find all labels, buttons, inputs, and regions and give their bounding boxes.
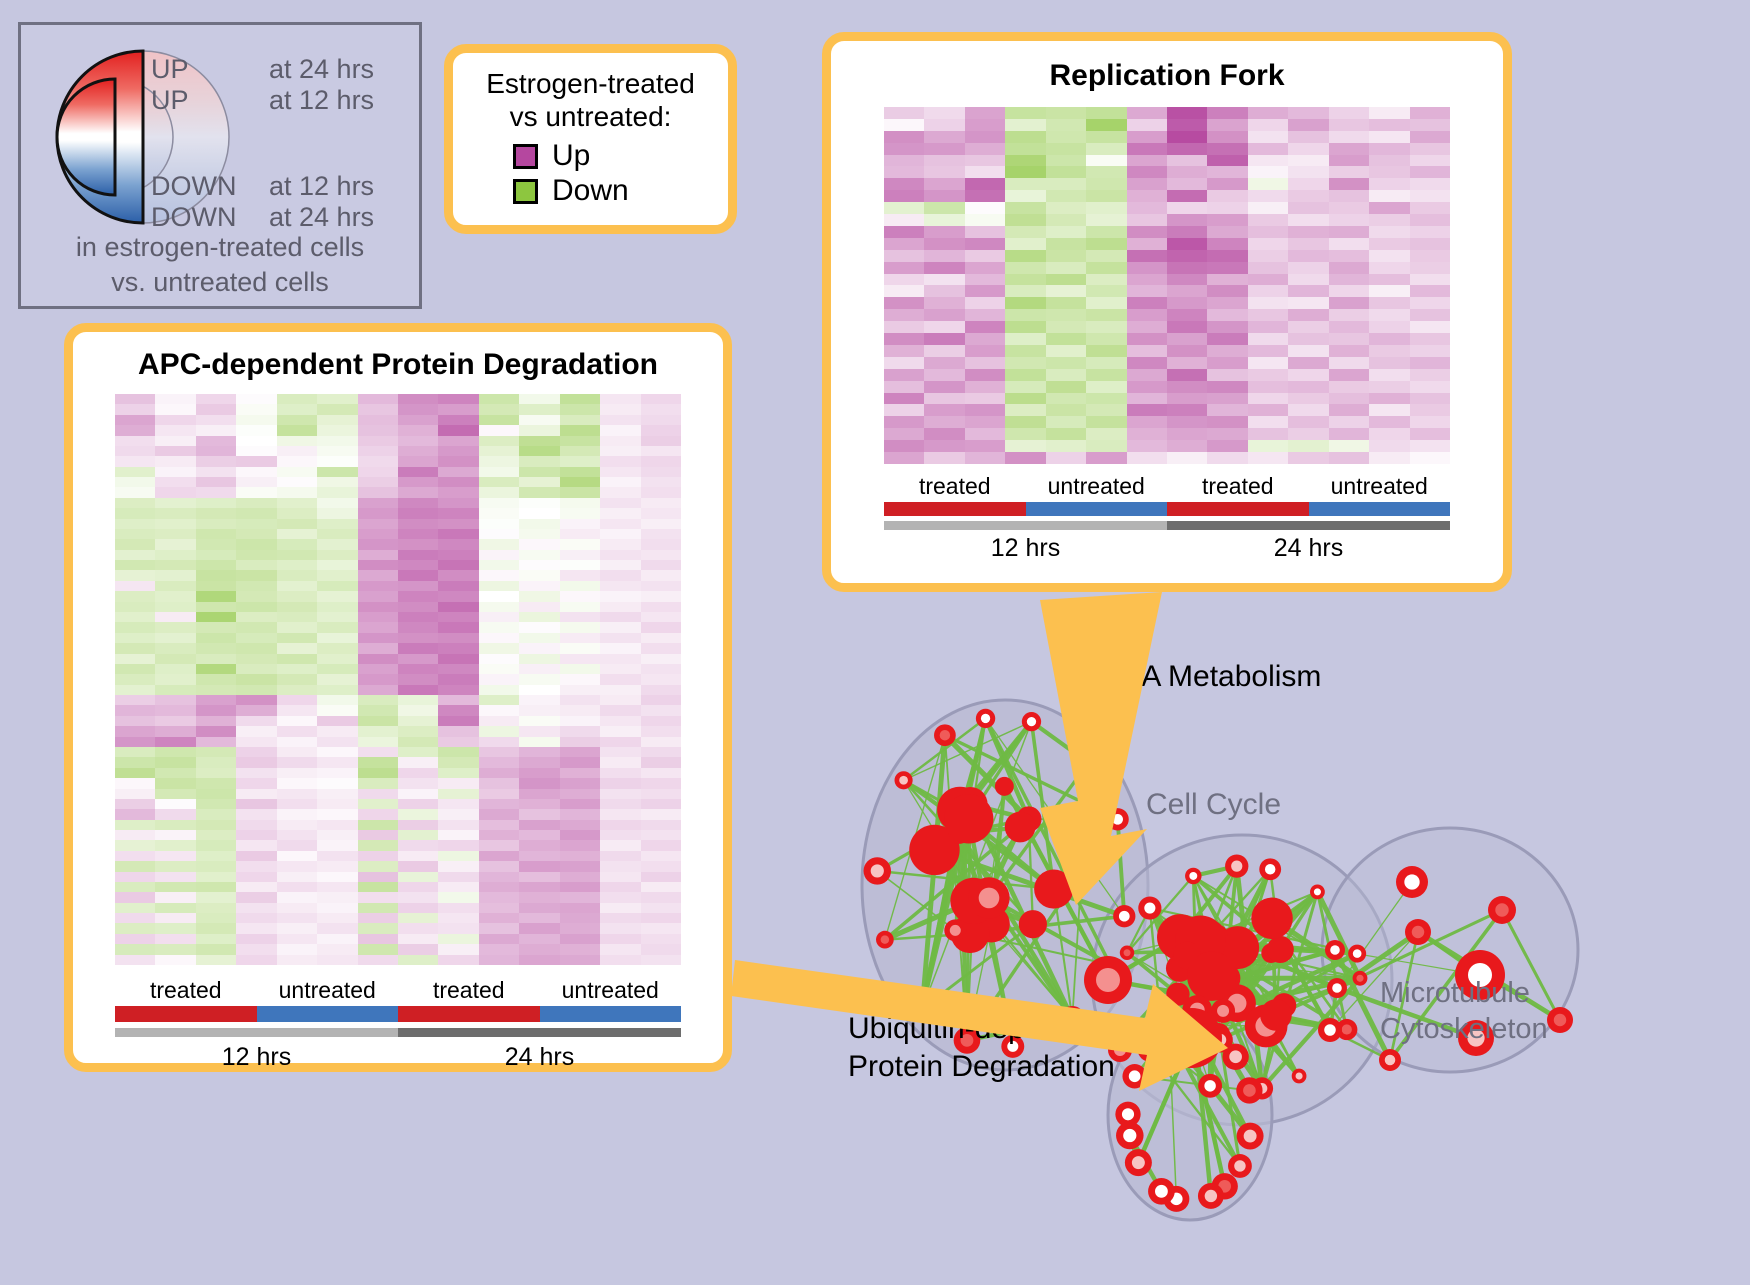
heatmap-cell: [438, 487, 478, 497]
heatmap-cell: [600, 654, 640, 664]
heatmap-cell: [438, 612, 478, 622]
heatmap-cell: [600, 726, 640, 736]
heatmap-cell: [317, 404, 357, 414]
heatmap-cell: [236, 664, 276, 674]
heatmap-cell: [1410, 452, 1450, 464]
heatmap-cell: [1086, 309, 1126, 321]
heatmap-cell: [560, 581, 600, 591]
heatmap-cell: [317, 705, 357, 715]
heatmap-cell: [1167, 107, 1207, 119]
heatmap-cell: [438, 529, 478, 539]
heatmap-cell: [1329, 226, 1369, 238]
heatmap-cell: [600, 789, 640, 799]
heatmap-cell: [277, 820, 317, 830]
heatmap-cell: [1410, 404, 1450, 416]
heatmap-cell: [560, 944, 600, 954]
heatmap-cell: [1248, 119, 1288, 131]
heatmap-time-labels: 12 hrs24 hrs: [884, 534, 1450, 563]
heatmap-cell: [1005, 131, 1045, 143]
heatmap-cell: [1086, 285, 1126, 297]
heatmap-cell: [600, 778, 640, 788]
color-key-state: UP: [151, 86, 269, 115]
heatmap-cell: [965, 107, 1005, 119]
heatmap-cell: [236, 851, 276, 861]
heatmap-cell: [1167, 357, 1207, 369]
heatmap-cell: [965, 226, 1005, 238]
heatmap-cell: [438, 602, 478, 612]
heatmap-cell: [277, 872, 317, 882]
heatmap-cell: [600, 633, 640, 643]
heatmap-cell: [398, 705, 438, 715]
legend-swatch-down-icon: [513, 179, 538, 204]
heatmap-cell: [965, 381, 1005, 393]
heatmap-cell: [277, 923, 317, 933]
heatmap-cell: [277, 643, 317, 653]
heatmap-cell: [884, 345, 924, 357]
heatmap-cell: [236, 903, 276, 913]
heatmap-cell: [479, 487, 519, 497]
heatmap-cell: [358, 716, 398, 726]
heatmap-cell: [1046, 428, 1086, 440]
heatmap-cell: [1207, 166, 1247, 178]
heatmap-cell: [317, 695, 357, 705]
heatmap-cell: [479, 425, 519, 435]
heatmap-cell: [1046, 107, 1086, 119]
heatmap-cell: [1207, 226, 1247, 238]
heatmap-cell: [519, 809, 559, 819]
heatmap-cell: [398, 591, 438, 601]
network-node-core: [1217, 1005, 1229, 1017]
color-key-footnote-line2: vs. untreated cells: [21, 265, 419, 300]
heatmap-cell: [1127, 107, 1167, 119]
heatmap-cell: [438, 685, 478, 695]
heatmap-cell: [519, 778, 559, 788]
heatmap-cell: [965, 238, 1005, 250]
heatmap-cell: [155, 778, 195, 788]
heatmap-cell: [115, 436, 155, 446]
heatmap-cell: [1369, 297, 1409, 309]
heatmap-cell: [1207, 190, 1247, 202]
heatmap-cell: [438, 498, 478, 508]
heatmap-cell: [438, 861, 478, 871]
heatmap-cell: [317, 570, 357, 580]
heatmap-cell: [358, 529, 398, 539]
network-node-core: [1129, 1070, 1141, 1082]
heatmap-cell: [1005, 274, 1045, 286]
heatmap-cell: [1329, 297, 1369, 309]
heatmap-cell: [560, 487, 600, 497]
heatmap-cell: [1167, 143, 1207, 155]
heatmap-cell: [1410, 119, 1450, 131]
heatmap-cell: [1248, 369, 1288, 381]
heatmap-cell: [1288, 309, 1328, 321]
heatmap-cell: [965, 250, 1005, 262]
network-node: [1034, 869, 1073, 908]
heatmap-cell: [1207, 250, 1247, 262]
heatmap-cell: [438, 415, 478, 425]
heatmap-cell: [884, 297, 924, 309]
heatmap-cell: [1086, 214, 1126, 226]
heatmap-cell: [1329, 428, 1369, 440]
heatmap-cell: [317, 654, 357, 664]
heatmap-cell: [924, 357, 964, 369]
heatmap-cell: [317, 851, 357, 861]
heatmap-cell: [1207, 440, 1247, 452]
heatmap-cell: [560, 602, 600, 612]
heatmap-cell: [277, 560, 317, 570]
heatmap-cell: [600, 581, 640, 591]
heatmap-cell: [277, 633, 317, 643]
heatmap-cell: [519, 591, 559, 601]
heatmap-cell: [600, 705, 640, 715]
network-node: [1251, 898, 1292, 939]
heatmap-cell: [317, 550, 357, 560]
heatmap-cell: [1288, 214, 1328, 226]
network-node-core: [1330, 945, 1340, 955]
heatmap-cell: [358, 830, 398, 840]
heatmap-cell: [317, 674, 357, 684]
heatmap-cell: [1046, 440, 1086, 452]
heatmap-cell: [1086, 369, 1126, 381]
heatmap-cell: [1167, 416, 1207, 428]
heatmap-cell: [115, 467, 155, 477]
heatmap-cell: [1329, 321, 1369, 333]
heatmap-cell: [115, 633, 155, 643]
heatmap-cell: [398, 446, 438, 456]
heatmap-cell: [560, 415, 600, 425]
heatmap-cell: [317, 944, 357, 954]
heatmap-cell: [884, 143, 924, 155]
heatmap-cell: [1369, 190, 1409, 202]
heatmap-cell: [1288, 250, 1328, 262]
heatmap-cell: [1410, 393, 1450, 405]
heatmap-cell: [438, 809, 478, 819]
heatmap-cell: [398, 934, 438, 944]
heatmap-cell: [438, 705, 478, 715]
heatmap-cell: [1046, 155, 1086, 167]
network-node-core: [1495, 903, 1508, 916]
heatmap-cell: [1369, 250, 1409, 262]
heatmap-cell: [1127, 428, 1167, 440]
heatmap-cell: [438, 913, 478, 923]
heatmap-cell: [277, 425, 317, 435]
heatmap-cell: [1005, 214, 1045, 226]
heatmap-cell: [479, 612, 519, 622]
color-key-time: at 24 hrs: [269, 55, 374, 84]
heatmap-cell: [155, 830, 195, 840]
heatmap-cell: [884, 238, 924, 250]
heatmap-cell: [1086, 238, 1126, 250]
heatmap-cell: [358, 892, 398, 902]
heatmap-cell: [924, 107, 964, 119]
heatmap-cell: [1005, 321, 1045, 333]
heatmap-cell: [1248, 428, 1288, 440]
heatmap-cell: [1046, 321, 1086, 333]
heatmap-cell: [479, 498, 519, 508]
heatmap-cell: [196, 591, 236, 601]
network-node-core: [1123, 1129, 1136, 1142]
heatmap-cell: [1046, 381, 1086, 393]
heatmap-cell: [358, 872, 398, 882]
heatmap-cell: [965, 166, 1005, 178]
heatmap-cell: [479, 602, 519, 612]
heatmap-cell: [1207, 333, 1247, 345]
heatmap-cell: [1005, 345, 1045, 357]
heatmap-cell: [398, 685, 438, 695]
heatmap-cell: [155, 809, 195, 819]
heatmap-cell: [1127, 404, 1167, 416]
heatmap-cell: [1167, 250, 1207, 262]
heatmap-cell: [600, 716, 640, 726]
heatmap-cell: [196, 477, 236, 487]
heatmap-cell: [641, 705, 681, 715]
heatmap-cell: [277, 477, 317, 487]
heatmap-cell: [398, 404, 438, 414]
heatmap-cell: [277, 882, 317, 892]
heatmap-cell: [600, 550, 640, 560]
heatmap-cell: [277, 737, 317, 747]
heatmap-cell: [641, 799, 681, 809]
heatmap-cell: [236, 955, 276, 965]
heatmap-cell: [924, 214, 964, 226]
heatmap-cell: [641, 830, 681, 840]
heatmap-cell: [519, 882, 559, 892]
heatmap-cell: [479, 404, 519, 414]
heatmap-cell: [115, 892, 155, 902]
heatmap-cell: [1167, 202, 1207, 214]
heatmap-cell: [479, 768, 519, 778]
heatmap-cell: [155, 944, 195, 954]
heatmap-cell: [884, 428, 924, 440]
heatmap-cell: [115, 809, 155, 819]
network-node-core: [981, 714, 990, 723]
heatmap-cell: [317, 716, 357, 726]
heatmap-cell: [438, 477, 478, 487]
heatmap-cell: [155, 799, 195, 809]
heatmap-cell: [884, 226, 924, 238]
heatmap-cell: [1167, 214, 1207, 226]
heatmap-cell: [1329, 250, 1369, 262]
network-node-core: [1144, 902, 1155, 913]
heatmap-cell: [1005, 178, 1045, 190]
heatmap-cell: [196, 944, 236, 954]
heatmap-cell: [115, 591, 155, 601]
heatmap-cell: [277, 778, 317, 788]
heatmap-cell: [479, 539, 519, 549]
heatmap-cell: [560, 550, 600, 560]
heatmap-cell: [479, 778, 519, 788]
heatmap-cell: [196, 570, 236, 580]
heatmap-cell: [155, 456, 195, 466]
heatmap-cell: [196, 415, 236, 425]
heatmap-cell: [1005, 369, 1045, 381]
heatmap-cell: [560, 539, 600, 549]
heatmap-cell: [1207, 119, 1247, 131]
heatmap-cell: [641, 550, 681, 560]
heatmap-cell: [196, 425, 236, 435]
heatmap-cell: [155, 705, 195, 715]
heatmap-cell: [398, 467, 438, 477]
network-node-core: [1155, 1185, 1168, 1198]
heatmap-cell: [398, 861, 438, 871]
heatmap-cell: [155, 861, 195, 871]
heatmap-cell: [641, 872, 681, 882]
legend-title: Estrogen-treated vs untreated:: [453, 67, 728, 133]
heatmap-cell: [155, 519, 195, 529]
heatmap-cell: [600, 923, 640, 933]
heatmap-cell: [438, 747, 478, 757]
network-node-core: [899, 776, 908, 785]
network-node-core: [1131, 1021, 1139, 1029]
heatmap-cell: [1167, 297, 1207, 309]
heatmap-cell: [1005, 357, 1045, 369]
heatmap-cell: [479, 654, 519, 664]
heatmap-cell: [1207, 143, 1247, 155]
heatmap-cell: [519, 674, 559, 684]
heatmap-cell: [560, 747, 600, 757]
heatmap-cell: [438, 923, 478, 933]
heatmap-cell: [1369, 166, 1409, 178]
heatmap-cell: [1288, 107, 1328, 119]
heatmap-cell: [317, 529, 357, 539]
heatmap-cell: [317, 539, 357, 549]
heatmap-cell: [600, 820, 640, 830]
heatmap-cell: [1248, 226, 1288, 238]
heatmap-cell: [1207, 416, 1247, 428]
heatmap-cell: [560, 446, 600, 456]
heatmap-cell: [1046, 143, 1086, 155]
heatmap-cell: [1410, 274, 1450, 286]
heatmap-cell: [236, 570, 276, 580]
heatmap-cell: [1207, 321, 1247, 333]
heatmap-cell: [560, 923, 600, 933]
heatmap-cell: [236, 529, 276, 539]
heatmap-cell: [317, 768, 357, 778]
heatmap-cell: [641, 716, 681, 726]
heatmap-cell: [196, 705, 236, 715]
heatmap-cell: [965, 357, 1005, 369]
heatmap-group-label: treated: [115, 977, 257, 1004]
heatmap-cell: [600, 622, 640, 632]
heatmap-cell: [398, 643, 438, 653]
heatmap-cell: [236, 768, 276, 778]
heatmap-cell: [236, 799, 276, 809]
heatmap-cell: [277, 591, 317, 601]
heatmap-cell: [398, 840, 438, 850]
heatmap-cell: [1207, 393, 1247, 405]
heatmap-cell: [277, 612, 317, 622]
heatmap-cell: [438, 789, 478, 799]
heatmap-cell: [317, 415, 357, 425]
heatmap-cell: [1369, 393, 1409, 405]
heatmap-cell: [641, 654, 681, 664]
heatmap-cell: [600, 560, 640, 570]
heatmap-cell: [641, 622, 681, 632]
heatmap-cell: [398, 560, 438, 570]
heatmap-group-bar-segment: [398, 1006, 540, 1022]
heatmap-cell: [1046, 297, 1086, 309]
heatmap-cell: [1288, 202, 1328, 214]
heatmap-cell: [115, 726, 155, 736]
heatmap-cell: [115, 622, 155, 632]
heatmap-group-label: untreated: [540, 977, 682, 1004]
heatmap-cell: [924, 178, 964, 190]
heatmap-cell: [600, 446, 640, 456]
heatmap-cell: [115, 799, 155, 809]
heatmap-cell: [155, 477, 195, 487]
heatmap-group-color-bar: [884, 502, 1450, 516]
heatmap-cell: [1369, 321, 1409, 333]
heatmap-cell: [438, 840, 478, 850]
heatmap-cell: [924, 333, 964, 345]
heatmap-cell: [438, 903, 478, 913]
heatmap-cell: [1127, 297, 1167, 309]
heatmap-cell: [155, 726, 195, 736]
heatmap-cell: [600, 737, 640, 747]
heatmap-cell: [317, 685, 357, 695]
heatmap-cell: [519, 685, 559, 695]
heatmap-cell: [196, 519, 236, 529]
heatmap-time-bar-segment: [1167, 521, 1450, 530]
heatmap-cell: [1046, 345, 1086, 357]
heatmap-cell: [1288, 333, 1328, 345]
heatmap-cell: [398, 477, 438, 487]
heatmap-cell: [277, 436, 317, 446]
heatmap-cell: [1046, 285, 1086, 297]
heatmap-cell: [438, 436, 478, 446]
heatmap-cell: [236, 809, 276, 819]
heatmap-cell: [519, 633, 559, 643]
heatmap-cell: [924, 131, 964, 143]
heatmap-cell: [965, 428, 1005, 440]
heatmap-cell: [236, 581, 276, 591]
heatmap-cell: [1086, 393, 1126, 405]
heatmap-cell: [358, 602, 398, 612]
heatmap-cell: [277, 695, 317, 705]
network-node-core: [1124, 949, 1131, 956]
heatmap-cell: [398, 529, 438, 539]
heatmap-cell: [358, 757, 398, 767]
heatmap-cell: [479, 622, 519, 632]
heatmap-cell: [1207, 452, 1247, 464]
heatmap-cell: [884, 369, 924, 381]
heatmap-cell: [1248, 297, 1288, 309]
heatmap-cell: [115, 955, 155, 965]
heatmap-cell: [1005, 416, 1045, 428]
heatmap-cell: [1410, 202, 1450, 214]
heatmap-apc: [115, 394, 681, 965]
cluster-label-dna-metabolism: DNA Metabolism: [1098, 660, 1321, 694]
heatmap-cell: [965, 131, 1005, 143]
heatmap-cell: [1248, 381, 1288, 393]
heatmap-group-bar-segment: [257, 1006, 399, 1022]
heatmap-cell: [641, 737, 681, 747]
heatmap-cell: [560, 695, 600, 705]
heatmap-cell: [641, 674, 681, 684]
heatmap-cell: [1127, 285, 1167, 297]
heatmap-cell: [560, 591, 600, 601]
heatmap-cell: [600, 664, 640, 674]
heatmap-cell: [519, 892, 559, 902]
heatmap-cell: [155, 529, 195, 539]
heatmap-cell: [277, 394, 317, 404]
heatmap-cell: [1329, 107, 1369, 119]
heatmap-cell: [358, 861, 398, 871]
heatmap-cell: [1046, 214, 1086, 226]
color-key-time: at 24 hrs: [269, 203, 374, 232]
heatmap-cell: [1207, 262, 1247, 274]
heatmap-group-bar-segment: [1309, 502, 1451, 516]
